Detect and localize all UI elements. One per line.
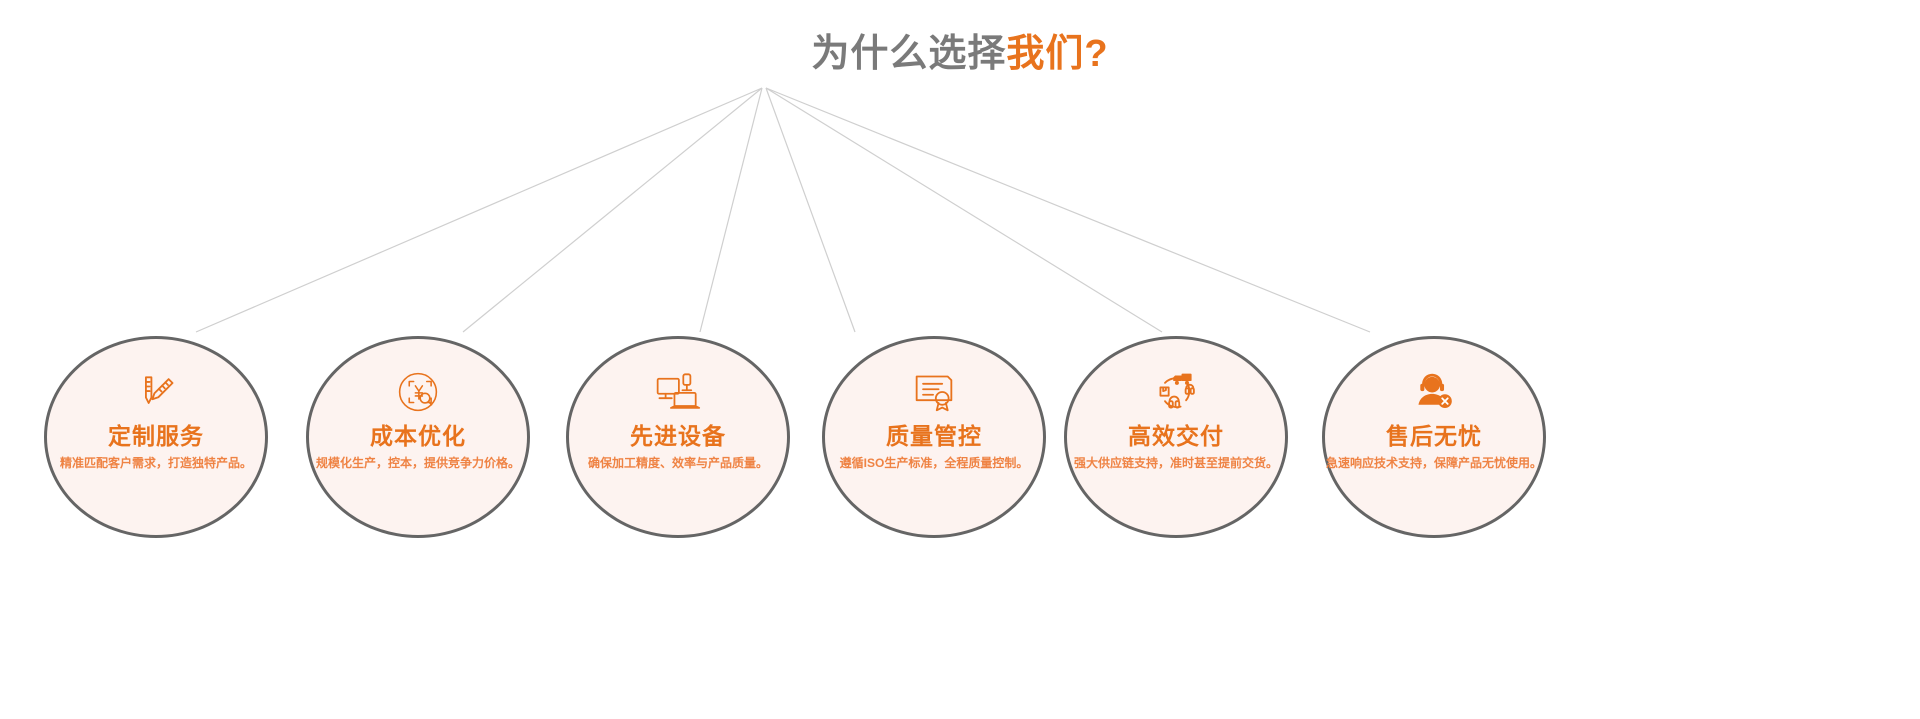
connector-line-1 — [196, 88, 762, 332]
feature-card-advanced-equipment[interactable]: 先进设备 确保加工精度、效率与产品质量。 — [566, 336, 790, 538]
feature-desc: 规模化生产，控本，提供竞争力价格。 — [316, 456, 520, 470]
connector-line-2 — [463, 88, 762, 332]
feature-circle-row: 定制服务 精准匹配客户需求，打造独特产品。 成本优化 规模化生产，控本，提供竞争… — [0, 336, 1920, 546]
feature-title: 高效交付 — [1128, 423, 1224, 449]
page-title-accent: 我们? — [1006, 33, 1108, 75]
connector-line-4 — [766, 88, 855, 332]
certificate-icon — [908, 367, 960, 417]
ruler-pencil-icon — [130, 367, 182, 417]
feature-card-custom-service[interactable]: 定制服务 精准匹配客户需求，打造独特产品。 — [44, 336, 268, 538]
feature-card-efficient-delivery[interactable]: 高效交付 强大供应链支持，准时甚至提前交货。 — [1064, 336, 1288, 538]
yuan-search-icon — [392, 367, 444, 417]
feature-card-quality-control[interactable]: 质量管控 遵循ISO生产标准，全程质量控制。 — [822, 336, 1046, 538]
why-choose-us-section: 为什么选择我们? 定制服务 — [0, 0, 1920, 719]
feature-title: 质量管控 — [886, 423, 982, 449]
connector-line-3 — [700, 88, 762, 332]
feature-card-cost-optimization[interactable]: 成本优化 规模化生产，控本，提供竞争力价格。 — [306, 336, 530, 538]
headset-support-icon — [1408, 367, 1460, 417]
supply-chain-truck-icon — [1150, 367, 1202, 417]
connector-line-6 — [766, 88, 1370, 332]
feature-title: 定制服务 — [108, 423, 204, 449]
page-title: 为什么选择我们? — [0, 30, 1920, 79]
computer-laptop-icon — [652, 367, 704, 417]
feature-title: 先进设备 — [630, 423, 726, 449]
feature-card-after-sales[interactable]: 售后无忧 急速响应技术支持，保障产品无忧使用。 — [1322, 336, 1546, 538]
feature-title: 售后无忧 — [1386, 423, 1482, 449]
connector-line-5 — [766, 88, 1162, 332]
feature-desc: 急速响应技术支持，保障产品无忧使用。 — [1326, 456, 1542, 470]
feature-desc: 强大供应链支持，准时甚至提前交货。 — [1074, 456, 1278, 470]
page-title-plain: 为什么选择 — [811, 33, 1006, 75]
feature-title: 成本优化 — [370, 423, 466, 449]
feature-desc: 遵循ISO生产标准，全程质量控制。 — [840, 456, 1029, 470]
feature-desc: 精准匹配客户需求，打造独特产品。 — [60, 456, 252, 470]
feature-desc: 确保加工精度、效率与产品质量。 — [588, 456, 768, 470]
